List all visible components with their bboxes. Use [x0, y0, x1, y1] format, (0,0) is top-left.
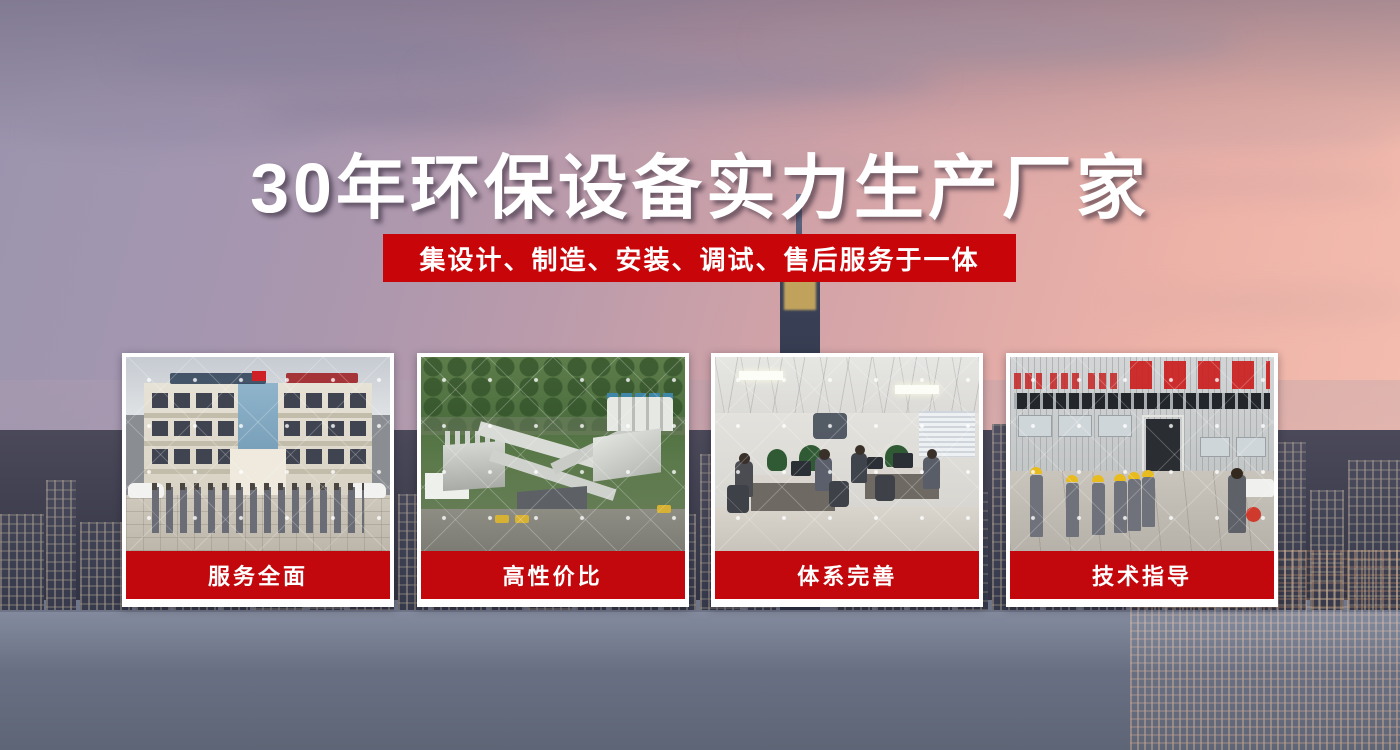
cloud-shape [260, 96, 560, 126]
card-caption: 体系完善 [715, 551, 979, 599]
feature-card[interactable]: 高性价比 [417, 353, 689, 607]
card-caption: 高性价比 [421, 551, 685, 599]
feature-card[interactable]: 体系完善 [711, 353, 983, 607]
feature-card[interactable]: 技术指导 [1006, 353, 1278, 607]
office-interior-photo [715, 357, 979, 551]
production-plant-aerial-photo [421, 357, 685, 551]
page-title: 30年环保设备实力生产厂家 [0, 132, 1400, 233]
card-caption: 服务全面 [126, 551, 390, 599]
company-headquarters-photo [126, 357, 390, 551]
wall-logo [813, 413, 847, 439]
factory-wall-slogan [1130, 361, 1270, 389]
promo-banner-stage: 30年环保设备实力生产厂家 集设计、制造、安装、调试、售后服务于一体 [0, 0, 1400, 750]
subtitle-banner: 集设计、制造、安装、调试、售后服务于一体 [383, 234, 1016, 282]
subtitle-text: 集设计、制造、安装、调试、售后服务于一体 [419, 240, 979, 277]
card-caption: 技术指导 [1010, 551, 1274, 599]
feature-card-row: 服务全面 [122, 353, 1278, 607]
safety-helmet-red [1246, 507, 1261, 522]
cloud-shape [760, 20, 1240, 64]
workers-training-photo [1010, 357, 1274, 551]
cloud-shape [420, 58, 940, 98]
building-phone-number [286, 373, 358, 383]
feature-card[interactable]: 服务全面 [122, 353, 394, 607]
